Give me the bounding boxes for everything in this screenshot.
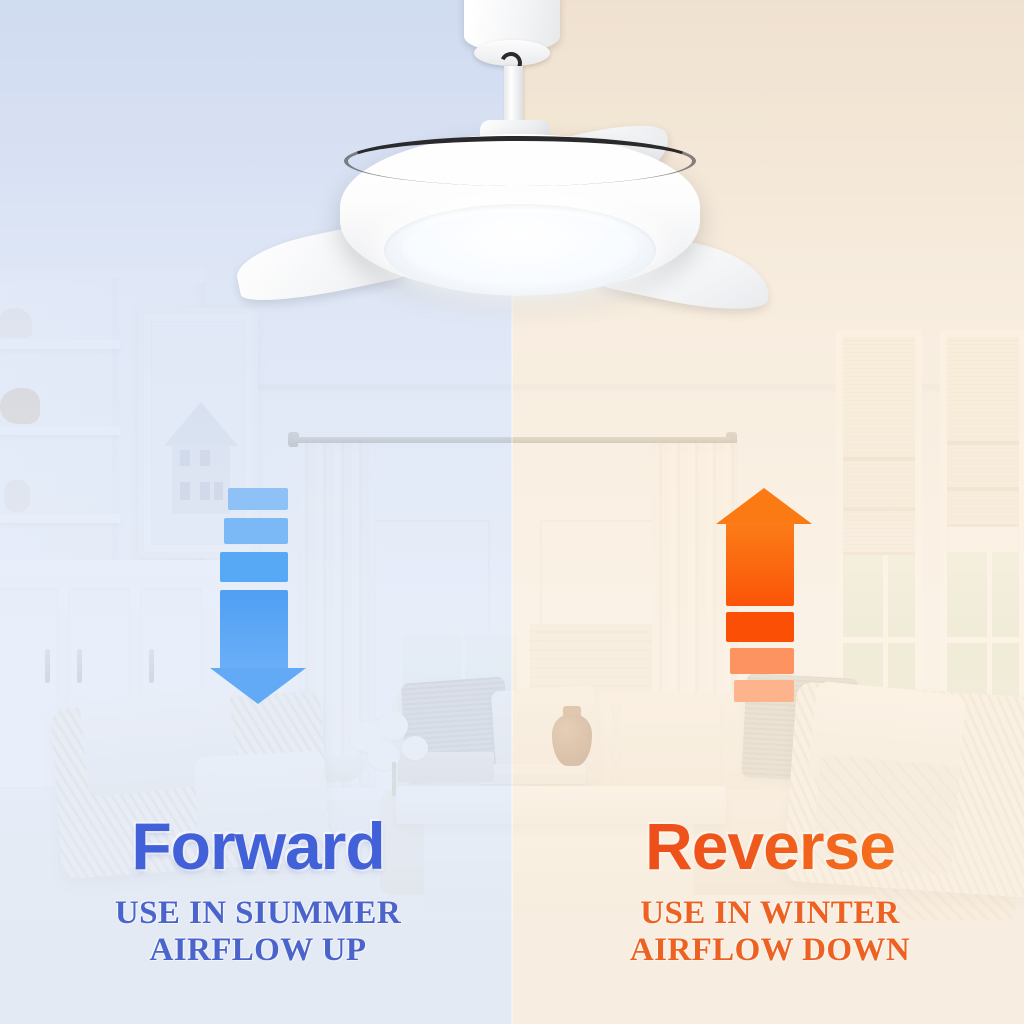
shade-fold [843,507,915,511]
arrow-head-up-icon [716,488,812,524]
forward-subtitle-line-2: AIRFLOW UP [18,932,498,970]
shade-fold [947,487,1019,491]
flower-arrangement [340,712,450,792]
downward-airflow-arrow [212,488,304,702]
shelf-board [0,340,120,349]
forward-headline: Forward [18,812,498,881]
arrow-head-down-icon [210,668,306,704]
house-window-shape [180,482,190,500]
arrow-segment [220,552,288,582]
ceiling-fan [252,0,772,294]
arrow-shaft [726,522,794,606]
window-mullion [843,637,915,643]
cabinet-handle [77,649,82,683]
shelf-board [0,514,120,523]
shelf-decor-object [4,480,30,512]
reverse-text-block: Reverse USE IN WINTER AIRFLOW DOWN [530,812,1010,970]
house-window-shape [200,450,210,466]
roman-shade [843,337,915,555]
arrow-shaft [220,590,288,674]
fan-black-trim-ring [344,136,696,186]
arrow-segment [726,612,794,642]
forward-subtitle: USE IN SIUMMER AIRFLOW UP [18,895,498,970]
shelf-decor-object [0,388,40,424]
reverse-subtitle-line-2: AIRFLOW DOWN [530,932,1010,970]
fan-led-inner-glow [402,212,638,286]
cabinet-handle [45,649,50,683]
shelf-decor-object [0,308,32,338]
cabinet-handle [149,649,154,683]
shelf-top-trim [0,268,205,282]
shade-fold [843,457,915,461]
forward-text-block: Forward USE IN SIUMMER AIRFLOW UP [18,812,498,970]
cabinet-door [0,588,58,788]
decorative-vase [552,714,592,766]
flower-stem [392,762,396,796]
arrow-segment [734,680,794,702]
window-mullion [947,637,1019,643]
arrow-segment [730,648,794,674]
flower-bloom [378,712,408,740]
flower-bloom [402,736,428,760]
shelf-board [0,426,120,435]
stacked-book [478,774,586,784]
house-window-shape [200,482,210,500]
reverse-headline: Reverse [530,812,1010,881]
forward-subtitle-line-1: USE IN SIUMMER [18,895,498,933]
reverse-subtitle-line-1: USE IN WINTER [530,895,1010,933]
reverse-subtitle: USE IN WINTER AIRFLOW DOWN [530,895,1010,970]
house-window-shape [180,450,190,466]
shade-fold [947,441,1019,445]
arrow-segment [224,518,288,544]
shelf-divider [112,278,119,568]
house-roof-shape [164,402,238,446]
roman-shade [947,337,1019,527]
product-comparison-image: Forward USE IN SIUMMER AIRFLOW UP Revers… [0,0,1024,1024]
arrow-segment [228,488,288,510]
upward-airflow-arrow [718,488,810,702]
